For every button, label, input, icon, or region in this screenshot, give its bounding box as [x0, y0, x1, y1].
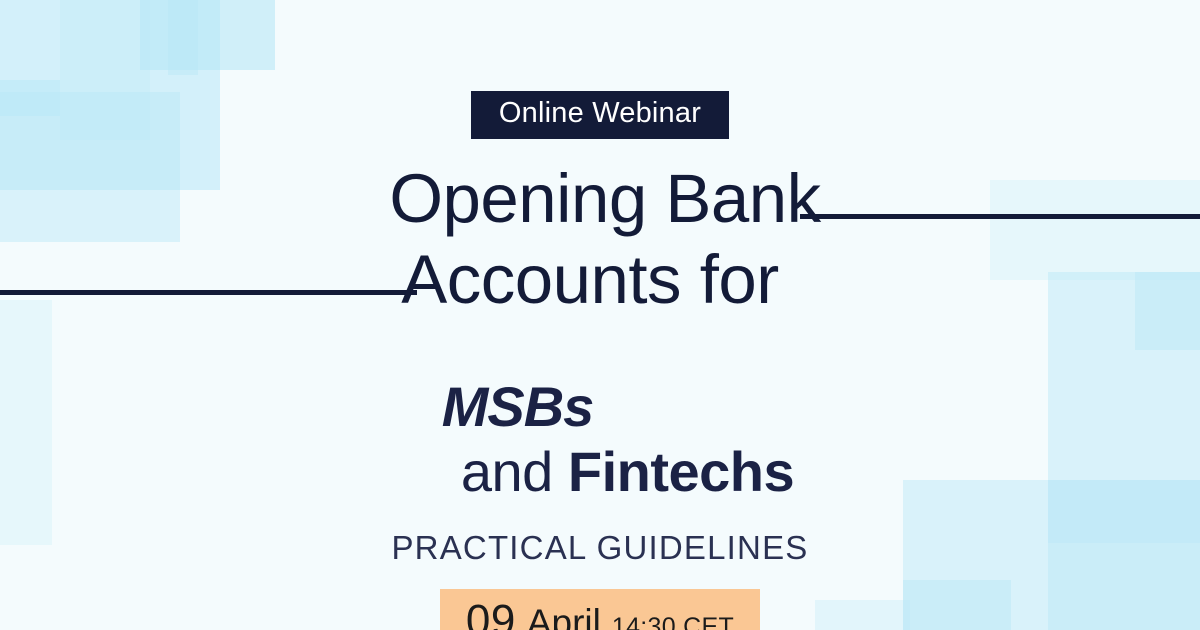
- date-day: 09: [466, 598, 516, 630]
- subject-row-secondary: and Fintechs: [461, 442, 794, 501]
- headline-line-1: Opening Bank: [389, 159, 820, 240]
- subject-emphasis: MSBs: [241, 377, 794, 436]
- subject-strong: Fintechs: [568, 440, 794, 503]
- page-title: Opening Bank Accounts for: [379, 159, 820, 320]
- tagline: PRACTICAL GUIDELINES: [391, 529, 808, 567]
- date-month: April: [527, 604, 601, 630]
- subject-conjunction: and: [461, 440, 553, 503]
- date-time: 14:30 CET: [612, 614, 734, 630]
- poster-content: Online Webinar Opening Bank Accounts for…: [0, 0, 1200, 630]
- headline-line-2: Accounts for: [359, 240, 820, 321]
- subject-block: MSBs and Fintechs: [406, 377, 794, 502]
- online-webinar-badge: Online Webinar: [471, 91, 729, 139]
- date-banner: 09 April 14:30 CET: [440, 589, 760, 630]
- webinar-promo-poster: Online Webinar Opening Bank Accounts for…: [0, 0, 1200, 630]
